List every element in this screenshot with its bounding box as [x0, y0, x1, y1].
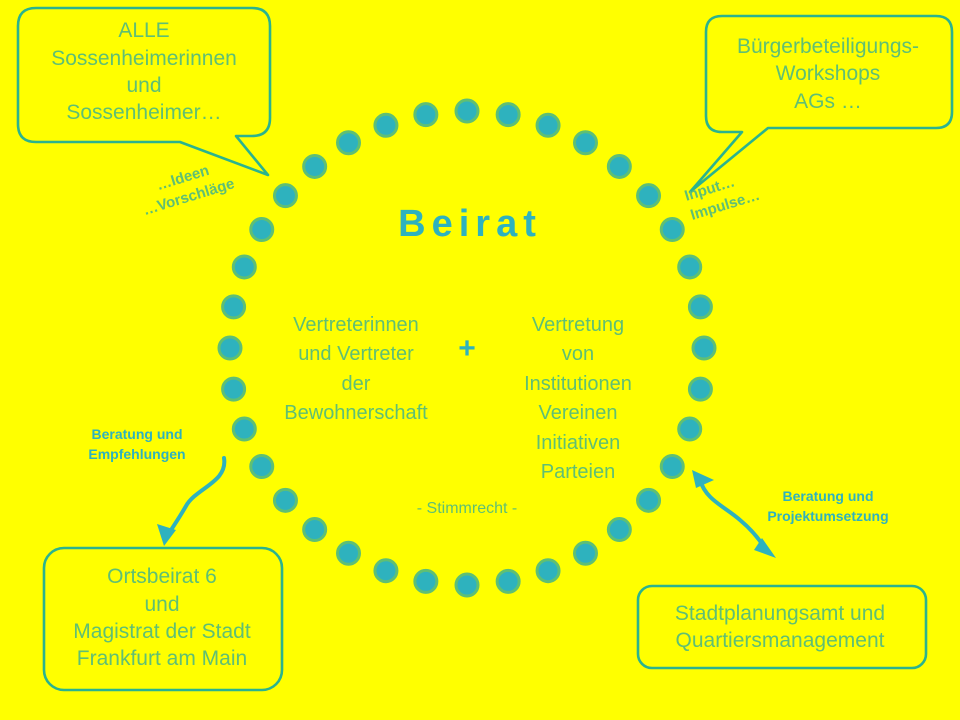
- speech-bubble-buergerbeteiligung-text: Bürgerbeteiligungs- Workshops AGs …: [706, 22, 950, 126]
- ring-dot: [638, 185, 660, 207]
- ring-dot: [415, 570, 437, 592]
- ring-dot: [537, 114, 559, 136]
- speech-bubble-alle-sossenheimer-text: ALLE Sossenheimerinnen und Sossenheimer…: [18, 8, 270, 136]
- ring-dot: [456, 574, 478, 596]
- ring-dot: [375, 560, 397, 582]
- ring-dot: [575, 132, 597, 154]
- center-right-column: Vertretung von Institutionen Vereinen In…: [484, 311, 672, 487]
- ring-dot: [415, 104, 437, 126]
- center-left-column: Vertreterinnen und Vertreter der Bewohne…: [262, 311, 450, 429]
- arrow-beratung-empfehlungen: [157, 458, 224, 546]
- ring-dot: [689, 378, 711, 400]
- ring-dot: [608, 155, 630, 177]
- ring-dot: [233, 418, 255, 440]
- ring-dot: [219, 337, 241, 359]
- ring-dot: [679, 418, 701, 440]
- box-ortsbeirat-text: Ortsbeirat 6 und Magistrat der Stadt Fra…: [48, 552, 276, 684]
- ring-dot: [679, 256, 701, 278]
- ring-dot: [689, 296, 711, 318]
- ring-dot: [223, 378, 245, 400]
- ring-dot: [638, 489, 660, 511]
- ring-dot: [661, 219, 683, 241]
- annotation-ideen-vorschlaege: …Ideen …Vorschläge: [119, 150, 253, 226]
- ring-dot: [693, 337, 715, 359]
- annotation-input-impulse: Input… Impulse…: [682, 158, 789, 226]
- plus-icon: +: [449, 332, 485, 366]
- ring-dot: [608, 519, 630, 541]
- annotation-beratung-empfehlungen: Beratung und Empfehlungen: [62, 425, 212, 465]
- ring-dot: [375, 114, 397, 136]
- ring-dot: [274, 489, 296, 511]
- ring-dot: [456, 100, 478, 122]
- ring-dot: [251, 456, 273, 478]
- diagram-title: Beirat: [300, 203, 640, 246]
- ring-dot: [575, 542, 597, 564]
- ring-dot: [274, 185, 296, 207]
- ring-dot: [233, 256, 255, 278]
- center-footnote: - Stimmrecht -: [367, 500, 567, 518]
- ring-dot: [223, 296, 245, 318]
- annotation-beratung-projektumsetzung: Beratung und Projektumsetzung: [744, 487, 912, 527]
- diagram-canvas: ALLE Sossenheimerinnen und Sossenheimer……: [0, 0, 960, 720]
- ring-dot: [338, 542, 360, 564]
- box-stadtplanungsamt-text: Stadtplanungsamt und Quartiersmanagement: [640, 588, 920, 666]
- ring-dot: [251, 219, 273, 241]
- ring-dot: [537, 560, 559, 582]
- ring-dot: [497, 104, 519, 126]
- ring-dot: [497, 570, 519, 592]
- ring-dot: [338, 132, 360, 154]
- ring-dot: [304, 519, 326, 541]
- ring-dot: [304, 155, 326, 177]
